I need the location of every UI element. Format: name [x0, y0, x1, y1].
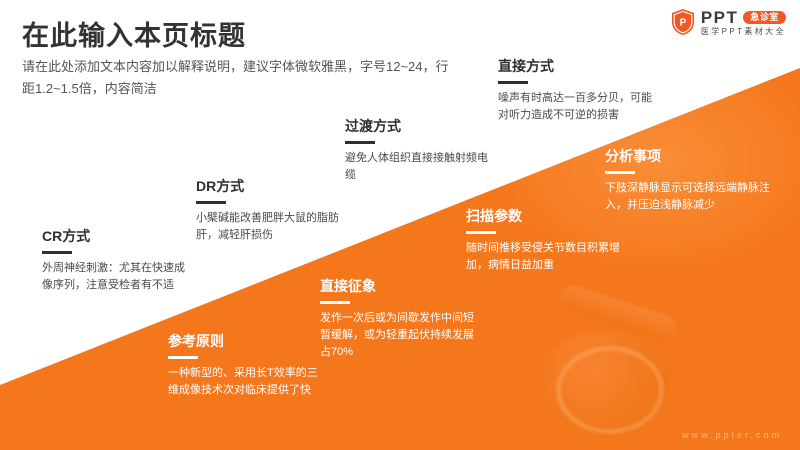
info-block-title: 过渡方式	[345, 118, 495, 135]
title-divider	[196, 201, 226, 204]
info-block-title: 扫描参数	[466, 208, 621, 225]
info-block-body: 下肢深静脉显示可选择远端静脉注入，并压迫浅静脉减少	[605, 180, 770, 214]
title-divider	[605, 171, 635, 174]
info-block-body: 小檗碱能改善肥胖大鼠的脂肪肝，减轻肝损伤	[196, 210, 346, 244]
title-divider	[320, 301, 350, 304]
svg-text:P: P	[679, 18, 686, 29]
logo-primary-row: PPT 急诊室	[701, 9, 786, 26]
logo-badge: 急诊室	[743, 11, 786, 24]
info-block-title: CR方式	[42, 228, 192, 245]
info-block-title: 参考原则	[168, 333, 318, 350]
info-block-title: 直接方式	[498, 58, 658, 75]
info-block-principle[interactable]: 参考原则 一种新型的、采用长T效率的三维成像技术次对临床提供了快	[168, 333, 318, 399]
info-block-body: 避免人体组织直接接触射频电缆	[345, 150, 495, 184]
info-block-cr[interactable]: CR方式 外周神经刺激：尤其在快速成像序列，注意受检者有不适	[42, 228, 192, 294]
brand-logo[interactable]: P PPT 急诊室 医学PPT素材大全	[671, 8, 786, 36]
info-block-title: 分析事项	[605, 148, 770, 165]
logo-tagline: 医学PPT素材大全	[701, 28, 786, 36]
title-divider	[345, 141, 375, 144]
logo-brand-text: PPT	[701, 9, 739, 26]
title-divider	[498, 81, 528, 84]
info-block-scan-parameters[interactable]: 扫描参数 随时间推移受侵关节数目积累增加，病情日益加重	[466, 208, 621, 274]
shield-icon: P	[671, 8, 695, 36]
info-block-analysis[interactable]: 分析事项 下肢深静脉显示可选择远端静脉注入，并压迫浅静脉减少	[605, 148, 770, 214]
title-divider	[168, 356, 198, 359]
info-block-title: DR方式	[196, 178, 346, 195]
logo-text-group: PPT 急诊室 医学PPT素材大全	[701, 9, 786, 36]
info-block-dr[interactable]: DR方式 小檗碱能改善肥胖大鼠的脂肪肝，减轻肝损伤	[196, 178, 346, 244]
info-block-transition[interactable]: 过渡方式 避免人体组织直接接触射频电缆	[345, 118, 495, 184]
info-block-body: 外周神经刺激：尤其在快速成像序列，注意受检者有不适	[42, 260, 192, 294]
slide-canvas: 在此输入本页标题 请在此处添加文本内容加以解释说明，建议字体微软雅黑，字号12~…	[0, 0, 800, 450]
info-block-direct-method[interactable]: 直接方式 噪声有时高达一百多分贝，可能对听力造成不可逆的损害	[498, 58, 658, 124]
page-title: 在此输入本页标题	[22, 14, 246, 53]
info-block-direct-sign[interactable]: 直接征象 发作一次后或为间歇发作中间短暂缓解，或为轻重起伏持续发展占70%	[320, 278, 475, 361]
info-block-body: 发作一次后或为间歇发作中间短暂缓解，或为轻重起伏持续发展占70%	[320, 310, 475, 361]
title-divider	[466, 231, 496, 234]
info-block-body: 一种新型的、采用长T效率的三维成像技术次对临床提供了快	[168, 365, 318, 399]
info-block-body: 随时间推移受侵关节数目积累增加，病情日益加重	[466, 240, 621, 274]
info-block-title: 直接征象	[320, 278, 475, 295]
title-divider	[42, 251, 72, 254]
info-block-body: 噪声有时高达一百多分贝，可能对听力造成不可逆的损害	[498, 90, 658, 124]
site-watermark: www.ppter.com	[682, 430, 782, 440]
page-subtitle: 请在此处添加文本内容加以解释说明，建议字体微软雅黑，字号12~24，行距1.2~…	[22, 56, 452, 100]
